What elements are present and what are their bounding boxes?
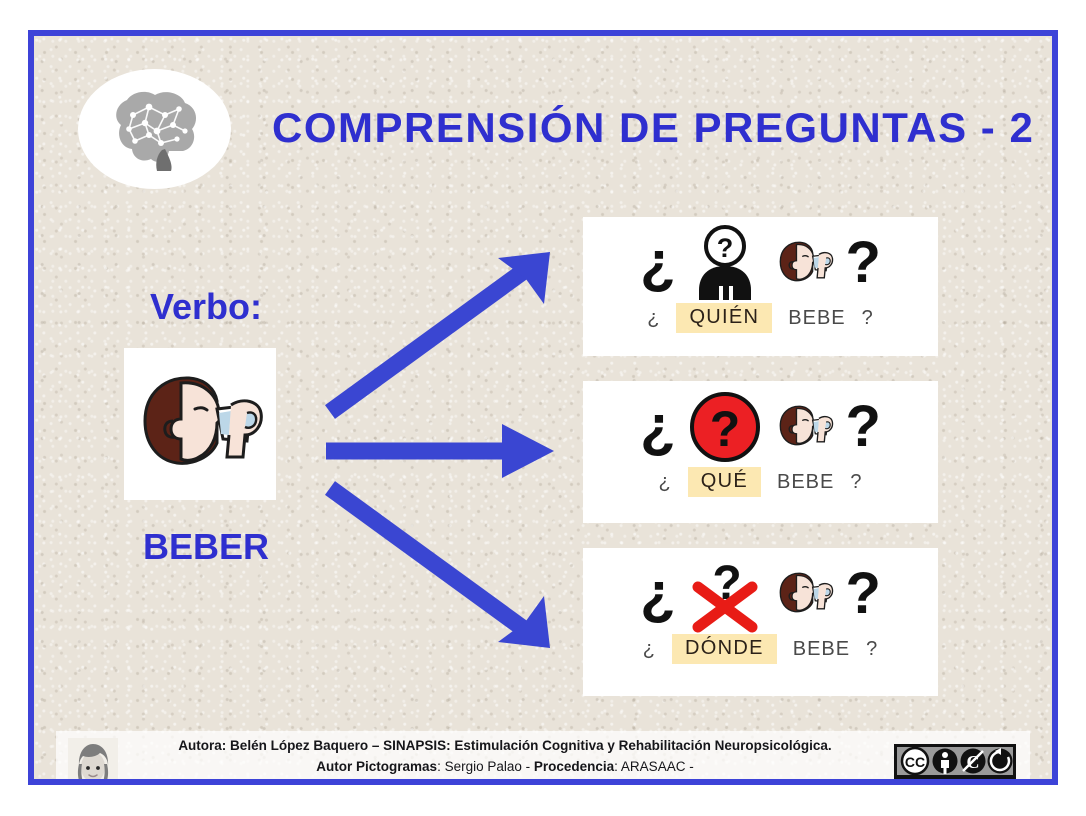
verb-label: Verbo:	[96, 286, 316, 328]
open-question-mark: ¿	[643, 638, 656, 661]
person-drinking-pictogram	[774, 391, 836, 463]
footer-credits-bar: Autora: Belén López Baquero – SINAPSIS: …	[56, 731, 1030, 785]
pictogram-row: ¿ ? ?	[583, 381, 938, 467]
open-question-mark: ¿	[647, 307, 660, 330]
open-question-mark: ¿	[659, 471, 672, 494]
question-mark-icon: ?	[846, 565, 881, 623]
inverted-question-mark-icon: ¿	[640, 398, 675, 456]
inverted-question-mark-icon: ¿	[640, 234, 675, 292]
question-mark-crossed-out-pictogram: ?	[686, 555, 764, 633]
svg-text:CC: CC	[905, 754, 925, 770]
question-card-que[interactable]: ¿ ? ? ¿ QUÉ BEBE ?	[583, 381, 938, 523]
credits-line-1: Autora: Belén López Baquero – SINAPSIS: …	[130, 736, 880, 757]
credits-pictograms-value: : Sergio Palao -	[437, 759, 534, 774]
author-portrait-avatar	[56, 738, 130, 785]
avatar-icon	[68, 738, 118, 785]
verb-word: BEBER	[96, 526, 316, 568]
brain-network-logo	[78, 69, 231, 189]
person-drinking-pictogram	[131, 365, 269, 483]
sentence-verb: BEBE	[777, 471, 834, 494]
keyword-highlight-que: QUÉ	[688, 467, 761, 497]
svg-text:BY: BY	[939, 778, 952, 786]
credits-source-label: Procedencia	[534, 759, 614, 774]
red-circle-question-pictogram: ?	[686, 388, 764, 466]
svg-text:?: ?	[709, 401, 740, 457]
credits-url[interactable]: https://unmardepalabrasblog.wordpress.co…	[130, 777, 880, 785]
slide-canvas: COMPRENSIÓN DE PREGUNTAS - 2 Verbo: BEBE…	[28, 30, 1058, 785]
arrow-down-right-icon	[322, 476, 558, 656]
person-drinking-pictogram	[774, 558, 836, 630]
sentence-verb: BEBE	[788, 307, 845, 330]
arrow-to-quien	[322, 244, 558, 424]
sentence-verb: BEBE	[793, 638, 850, 661]
credits-pictograms-label: Autor Pictogramas	[316, 759, 437, 774]
close-question-mark: ?	[866, 638, 878, 661]
verb-pictogram-card	[124, 348, 276, 500]
question-card-donde[interactable]: ¿ ? ? ¿ DÓNDE BEBE	[583, 548, 938, 696]
pictogram-row: ¿ ? ?	[583, 548, 938, 634]
sentence-row: ¿ QUÉ BEBE ?	[583, 467, 938, 497]
question-mark-icon: ?	[846, 398, 881, 456]
creative-commons-license[interactable]: CC C BY NC SA	[880, 744, 1030, 786]
credits-source-value: : ARASAAC -	[614, 759, 694, 774]
sentence-row: ¿ DÓNDE BEBE ?	[583, 634, 938, 664]
arrow-up-right-icon	[322, 244, 558, 424]
arrow-to-donde	[322, 476, 558, 656]
person-drinking-pictogram	[774, 227, 836, 299]
cc-by-nc-sa-icon: CC C BY NC SA	[894, 744, 1016, 786]
question-card-quien[interactable]: ¿ ? ? ¿ QUIÉN BEBE	[583, 217, 938, 356]
inverted-question-mark-icon: ¿	[640, 565, 675, 623]
question-mark-icon: ?	[846, 234, 881, 292]
svg-text:?: ?	[716, 233, 733, 263]
credits-line-2: Autor Pictogramas: Sergio Palao - Proced…	[130, 757, 880, 778]
svg-text:SA: SA	[994, 778, 1007, 786]
close-question-mark: ?	[862, 307, 874, 330]
pictogram-row: ¿ ? ?	[583, 217, 938, 303]
svg-text:NC: NC	[967, 778, 980, 786]
page-title: COMPRENSIÓN DE PREGUNTAS - 2	[272, 104, 1032, 152]
sentence-row: ¿ QUIÉN BEBE ?	[583, 303, 938, 333]
person-question-pictogram: ?	[686, 224, 764, 302]
credits-text: Autora: Belén López Baquero – SINAPSIS: …	[130, 736, 880, 785]
keyword-highlight-donde: DÓNDE	[672, 634, 777, 664]
close-question-mark: ?	[850, 471, 862, 494]
keyword-highlight-quien: QUIÉN	[676, 303, 772, 333]
brain-icon	[99, 85, 211, 173]
